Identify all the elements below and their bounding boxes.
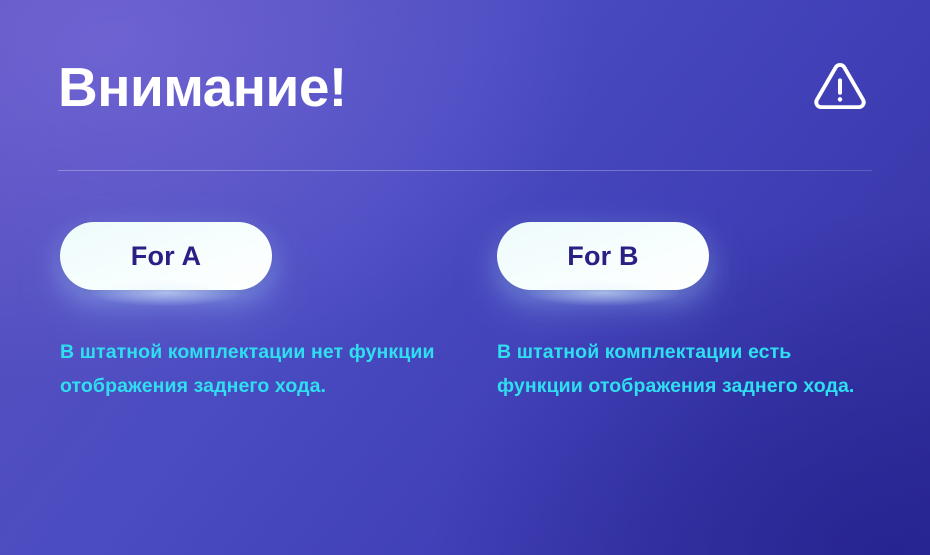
option-column-a: For A В штатной комплектации нет функции…: [60, 222, 497, 423]
header-divider: [58, 170, 872, 171]
option-a-description: В штатной комплектации нет функции отобр…: [60, 335, 450, 403]
for-a-button[interactable]: For A: [60, 222, 272, 290]
for-a-button-label: For A: [131, 243, 202, 270]
option-column-b: For B В штатной комплектации есть функци…: [497, 222, 930, 423]
for-b-button[interactable]: For B: [497, 222, 709, 290]
options-container: For A В штатной комплектации нет функции…: [60, 222, 884, 423]
option-b-description: В штатной комплектации есть функции отоб…: [497, 335, 882, 403]
for-b-button-label: For B: [567, 243, 639, 270]
warning-triangle-icon: [812, 59, 868, 115]
page-title: Внимание!: [58, 60, 347, 115]
slide-header: Внимание!: [58, 46, 872, 128]
warning-slide: Внимание! For A В штатной комплектации н…: [0, 0, 930, 555]
